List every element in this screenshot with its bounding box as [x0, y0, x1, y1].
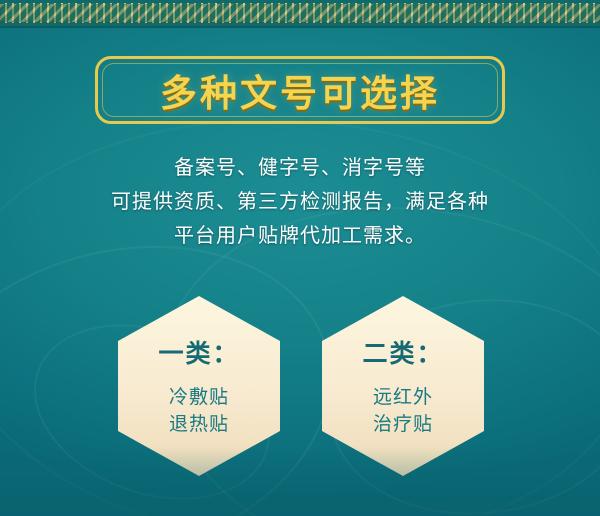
title-plaque: 多种文号可选择	[95, 56, 505, 124]
description-line-1: 备案号、健字号、消字号等	[0, 150, 600, 184]
bottom-gradient-overlay	[0, 446, 600, 516]
description-line-3: 平台用户贴牌代加工需求。	[0, 218, 600, 252]
page-title: 多种文号可选择	[160, 63, 440, 117]
category-1-item-1: 冷敷贴	[169, 384, 229, 411]
top-border-edge-lower	[0, 23, 600, 26]
category-1-heading: 一类：	[158, 334, 239, 370]
category-2-heading: 二类：	[362, 334, 443, 370]
category-1-item-2: 退热贴	[169, 411, 229, 438]
decorative-top-border	[0, 0, 600, 28]
description-block: 备案号、健字号、消字号等 可提供资质、第三方检测报告，满足各种 平台用户贴牌代加…	[0, 150, 600, 252]
category-hexagon-2: 二类： 远红外 治疗贴	[322, 296, 484, 476]
description-line-2: 可提供资质、第三方检测报告，满足各种	[0, 184, 600, 218]
poster-canvas: 多种文号可选择 备案号、健字号、消字号等 可提供资质、第三方检测报告，满足各种 …	[0, 0, 600, 516]
category-2-item-2: 治疗贴	[373, 411, 433, 438]
top-border-edge-upper	[0, 0, 600, 3]
category-2-item-1: 远红外	[373, 384, 433, 411]
category-hexagon-1: 一类： 冷敷贴 退热贴	[118, 296, 280, 476]
top-border-pattern	[0, 4, 600, 22]
